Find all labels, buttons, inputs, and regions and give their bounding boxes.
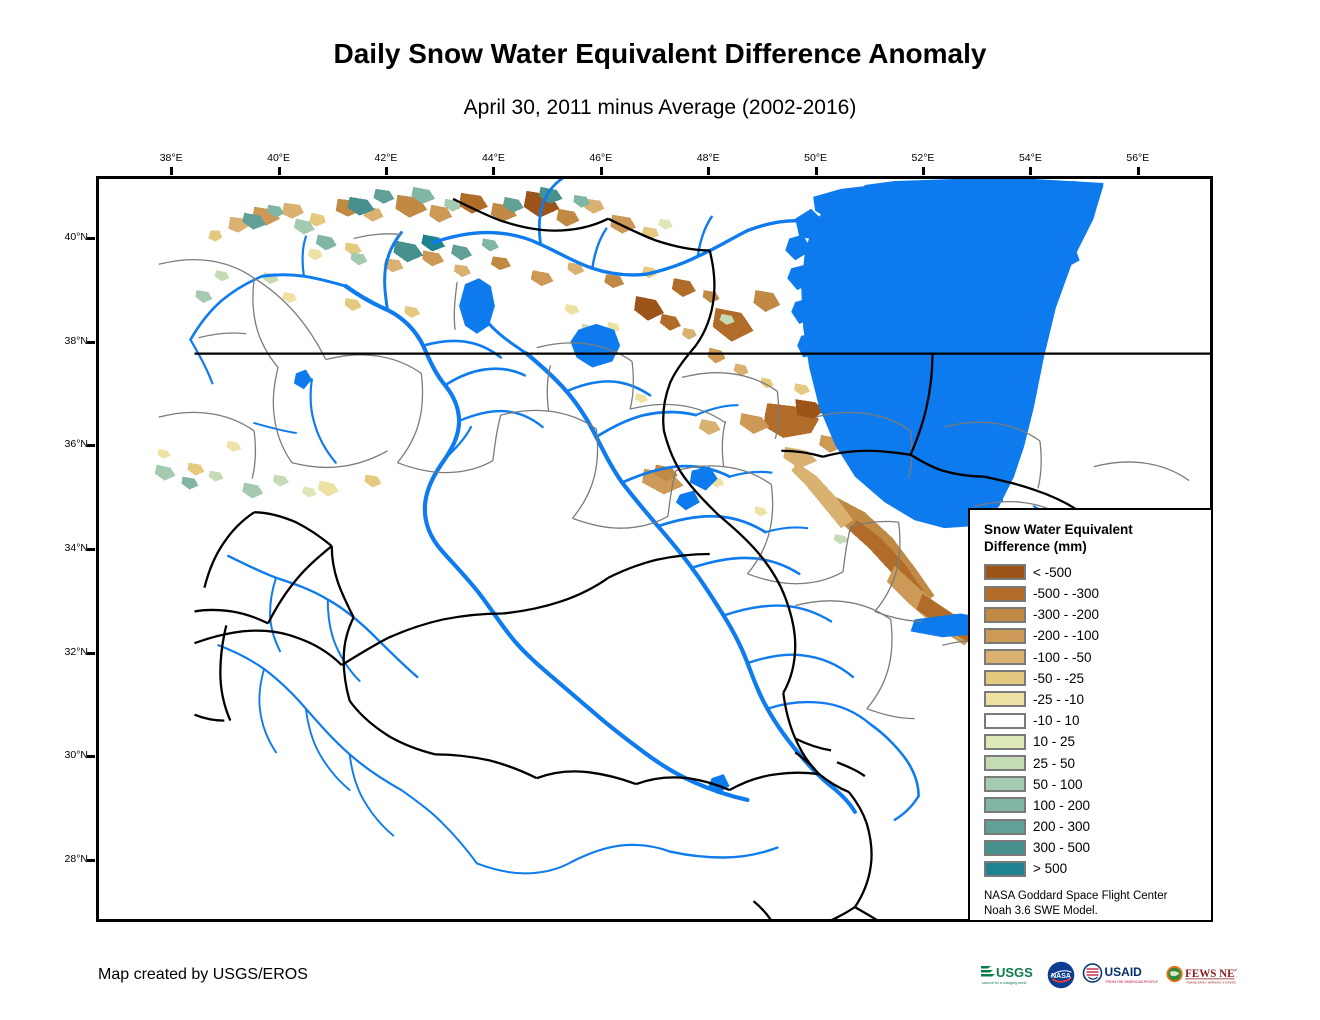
legend-swatch — [984, 797, 1026, 813]
legend-row: -25 - -10 — [984, 689, 1201, 710]
lat-label: 40°N — [28, 231, 88, 243]
usaid-logo: USAID FROM THE AMERICAN PEOPLE — [1082, 960, 1158, 990]
legend-row: 200 - 300 — [984, 816, 1201, 837]
legend-swatch — [984, 776, 1026, 792]
legend-label: 25 - 50 — [1033, 756, 1075, 771]
legend-label: 10 - 25 — [1033, 734, 1075, 749]
legend-note-line2: Noah 3.6 SWE Model. — [984, 904, 1201, 919]
svg-text:USGS: USGS — [996, 965, 1033, 980]
legend-swatch — [984, 564, 1026, 580]
legend-label: > 500 — [1033, 861, 1067, 876]
legend-label: 200 - 300 — [1033, 819, 1090, 834]
svg-text:USAID: USAID — [1105, 965, 1143, 979]
legend-source-note: NASA Goddard Space Flight Center Noah 3.… — [984, 889, 1201, 919]
lat-label: 36°N — [28, 438, 88, 450]
legend-swatch — [984, 670, 1026, 686]
nasa-logo: NASA — [1047, 960, 1075, 990]
legend-label: 100 - 200 — [1033, 798, 1090, 813]
legend-label: 300 - 500 — [1033, 840, 1090, 855]
lat-tick — [87, 755, 95, 758]
legend-label: -200 - -100 — [1033, 628, 1099, 643]
legend-swatch — [984, 713, 1026, 729]
legend-row: 100 - 200 — [984, 795, 1201, 816]
legend-row: -100 - -50 — [984, 647, 1201, 668]
legend-swatch — [984, 586, 1026, 602]
lon-label: 52°E — [893, 152, 953, 164]
lon-label: 38°E — [141, 152, 201, 164]
legend-swatch — [984, 734, 1026, 750]
legend-title-line1: Snow Water Equivalent — [984, 522, 1201, 539]
legend-label: -300 - -200 — [1033, 607, 1099, 622]
legend-swatch — [984, 819, 1026, 835]
legend-label: < -500 — [1033, 565, 1072, 580]
lon-tick — [170, 167, 173, 175]
lat-tick — [87, 237, 95, 240]
page-title: Daily Snow Water Equivalent Difference A… — [0, 38, 1320, 70]
lon-label: 42°E — [356, 152, 416, 164]
legend-title-line2: Difference (mm) — [984, 539, 1201, 556]
lat-label: 32°N — [28, 646, 88, 658]
lon-label: 54°E — [1000, 152, 1060, 164]
legend-swatch — [984, 649, 1026, 665]
logo-row: USGS science for a changing world NASA U… — [980, 955, 1215, 995]
legend-label: -25 - -10 — [1033, 692, 1084, 707]
legend-row: > 500 — [984, 858, 1201, 879]
lon-tick — [1137, 167, 1140, 175]
lat-label: 34°N — [28, 542, 88, 554]
lon-tick — [385, 167, 388, 175]
legend-row: -300 - -200 — [984, 604, 1201, 625]
lon-tick — [600, 167, 603, 175]
svg-text:FEWS NET: FEWS NET — [1185, 968, 1237, 980]
legend-row: 300 - 500 — [984, 837, 1201, 858]
legend-swatch — [984, 840, 1026, 856]
svg-text:science for a changing world: science for a changing world — [982, 981, 1026, 985]
legend-swatch — [984, 755, 1026, 771]
lon-tick — [1029, 167, 1032, 175]
footer-credit: Map created by USGS/EROS — [98, 966, 308, 984]
legend-label: -100 - -50 — [1033, 650, 1092, 665]
legend-swatch — [984, 607, 1026, 623]
usgs-logo: USGS science for a changing world — [980, 960, 1040, 990]
legend-swatch — [984, 861, 1026, 877]
lat-tick — [87, 444, 95, 447]
legend-row: -10 - 10 — [984, 710, 1201, 731]
lon-tick — [922, 167, 925, 175]
lat-tick — [87, 859, 95, 862]
legend-label: -50 - -25 — [1033, 671, 1084, 686]
legend-row: 25 - 50 — [984, 752, 1201, 773]
legend-note-line1: NASA Goddard Space Flight Center — [984, 889, 1201, 904]
legend-row: 10 - 25 — [984, 731, 1201, 752]
lat-label: 28°N — [28, 853, 88, 865]
lat-tick — [87, 341, 95, 344]
lon-tick — [707, 167, 710, 175]
legend-label: 50 - 100 — [1033, 777, 1083, 792]
legend-items: < -500-500 - -300-300 - -200-200 - -100-… — [984, 562, 1201, 880]
lat-label: 38°N — [28, 335, 88, 347]
svg-text:NASA: NASA — [1051, 973, 1071, 980]
fewsnet-logo: FEWS NET FAMINE EARLY WARNING SYSTEMS NE… — [1165, 960, 1237, 990]
legend-swatch — [984, 628, 1026, 644]
lon-tick — [815, 167, 818, 175]
legend-label: -10 - 10 — [1033, 713, 1080, 728]
lat-tick — [87, 652, 95, 655]
legend-row: < -500 — [984, 562, 1201, 583]
lon-label: 56°E — [1108, 152, 1168, 164]
legend-row: -500 - -300 — [984, 583, 1201, 604]
lon-label: 48°E — [678, 152, 738, 164]
legend-row: -50 - -25 — [984, 668, 1201, 689]
legend-label: -500 - -300 — [1033, 586, 1099, 601]
page-subtitle: April 30, 2011 minus Average (2002-2016) — [0, 96, 1320, 120]
legend-row: -200 - -100 — [984, 625, 1201, 646]
svg-text:FROM THE AMERICAN PEOPLE: FROM THE AMERICAN PEOPLE — [1106, 980, 1159, 984]
svg-text:FAMINE EARLY WARNING SYSTEMS N: FAMINE EARLY WARNING SYSTEMS NETWORK — [1186, 981, 1237, 985]
lon-label: 46°E — [571, 152, 631, 164]
lon-label: 50°E — [786, 152, 846, 164]
lat-label: 30°N — [28, 749, 88, 761]
map-legend: Snow Water Equivalent Difference (mm) < … — [968, 508, 1213, 922]
lon-label: 40°E — [249, 152, 309, 164]
lat-tick — [87, 548, 95, 551]
legend-title: Snow Water Equivalent Difference (mm) — [984, 522, 1201, 556]
legend-swatch — [984, 691, 1026, 707]
lon-tick — [278, 167, 281, 175]
lon-label: 44°E — [463, 152, 523, 164]
lon-tick — [492, 167, 495, 175]
legend-row: 50 - 100 — [984, 774, 1201, 795]
